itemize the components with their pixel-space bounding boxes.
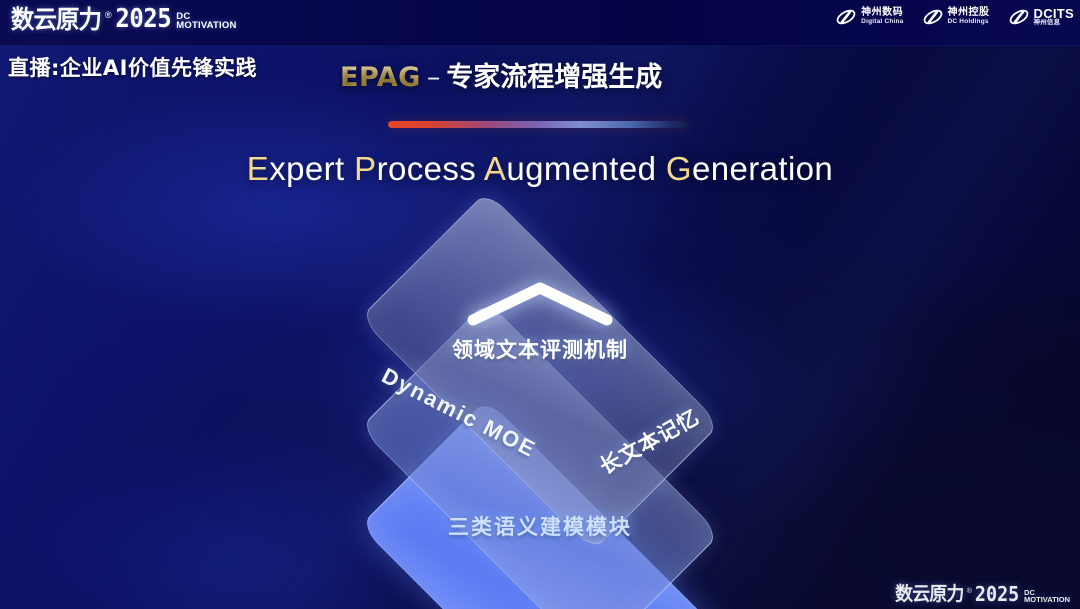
- partner-logo-dcits: DCITS 神州信息: [1008, 6, 1075, 28]
- watermark-registered-mark: ®: [967, 588, 972, 595]
- subtitle-rest-augmented: ugmented: [506, 150, 666, 187]
- stack-label-top: 领域文本评测机制: [452, 334, 628, 364]
- title-separator: –: [427, 62, 441, 93]
- brand-dc-motivation: DC MOTIVATION: [176, 13, 236, 31]
- subtitle-rest-process: rocess: [377, 150, 484, 187]
- subtitle-cap-e: E: [247, 150, 269, 187]
- watermark-year: 2025: [975, 584, 1019, 604]
- subtitle-rest-expert: xpert: [269, 150, 354, 187]
- title-acronym: EPAG: [340, 62, 421, 93]
- brand-name-cn: 数云原力: [11, 7, 101, 32]
- swoosh-logo-icon: [835, 6, 857, 28]
- partner-name-en: DC Holdings: [948, 19, 990, 26]
- gradient-divider: [388, 121, 688, 128]
- slide-stage: 数云原力 ® 2025 DC MOTIVATION 神州数码 Digital C…: [0, 0, 1080, 609]
- watermark-name-cn: 数云原力: [895, 585, 963, 604]
- swoosh-logo-icon: [1008, 6, 1030, 28]
- partner-name-en: 神州信息: [1034, 20, 1075, 27]
- subtitle-rest-generation: eneration: [692, 150, 833, 187]
- subtitle: Expert Process Augmented Generation: [0, 150, 1080, 188]
- partner-logo-digital-china: 神州数码 Digital China: [835, 6, 903, 28]
- partner-logo-dc-holdings: 神州控股 DC Holdings: [922, 6, 990, 28]
- watermark-dc-motivation: DC MOTIVATION: [1024, 589, 1070, 603]
- partner-name-en: Digital China: [861, 19, 903, 26]
- title-text-cn: 专家流程增强生成: [446, 62, 662, 93]
- brand-logo: 数云原力 ® 2025 DC MOTIVATION: [8, 6, 237, 32]
- swoosh-logo-icon: [922, 6, 944, 28]
- subtitle-cap-a: A: [484, 150, 506, 187]
- brand-dc-line2: MOTIVATION: [176, 22, 236, 31]
- page-title: EPAG–专家流程增强生成: [340, 55, 662, 94]
- subtitle-cap-g: G: [666, 150, 692, 187]
- brand-year: 2025: [115, 6, 171, 32]
- brand-registered-mark: ®: [105, 11, 112, 20]
- watermark-logo: 数云原力 ® 2025 DC MOTIVATION: [893, 584, 1070, 604]
- live-broadcast-label: 直播:企业AI价值先锋实践: [8, 52, 257, 82]
- partner-logo-group: 神州数码 Digital China 神州控股 DC Holdings: [835, 6, 1074, 28]
- stack-label-bottom: 三类语义建模模块: [448, 511, 632, 541]
- watermark-dc-line2: MOTIVATION: [1024, 596, 1070, 603]
- subtitle-cap-p: P: [354, 150, 376, 187]
